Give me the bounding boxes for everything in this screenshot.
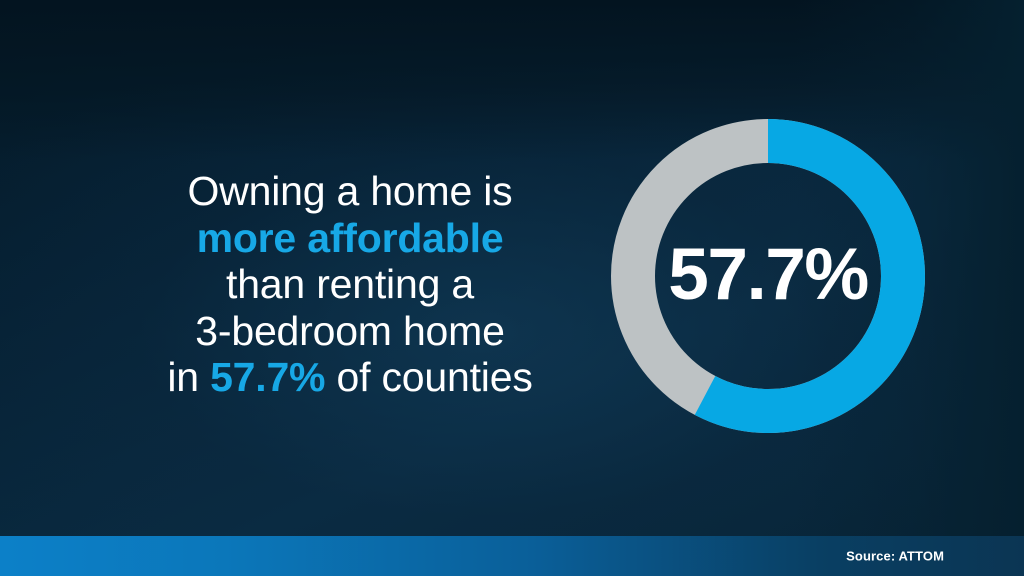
headline-text-block: Owning a home is more affordable than re…	[40, 168, 660, 401]
donut-chart: 57.7%	[611, 119, 925, 433]
donut-center-value: 57.7%	[611, 119, 925, 433]
source-attribution: Source: ATTOM	[846, 549, 944, 564]
headline-accent-percentage: 57.7%	[210, 354, 325, 400]
headline-line-5-suffix: of counties	[325, 354, 532, 400]
headline-line-1: Owning a home is	[40, 168, 660, 215]
headline-line-5: in 57.7% of counties	[40, 354, 660, 401]
headline-line-3: than renting a	[40, 261, 660, 308]
headline-line-4: 3-bedroom home	[40, 308, 660, 355]
infographic-slide: Owning a home is more affordable than re…	[0, 0, 1024, 576]
footer-bar: Source: ATTOM	[0, 536, 1024, 576]
headline-line-2: more affordable	[40, 215, 660, 262]
headline-line-5-prefix: in	[167, 354, 210, 400]
headline-accent-more-affordable: more affordable	[197, 215, 504, 261]
